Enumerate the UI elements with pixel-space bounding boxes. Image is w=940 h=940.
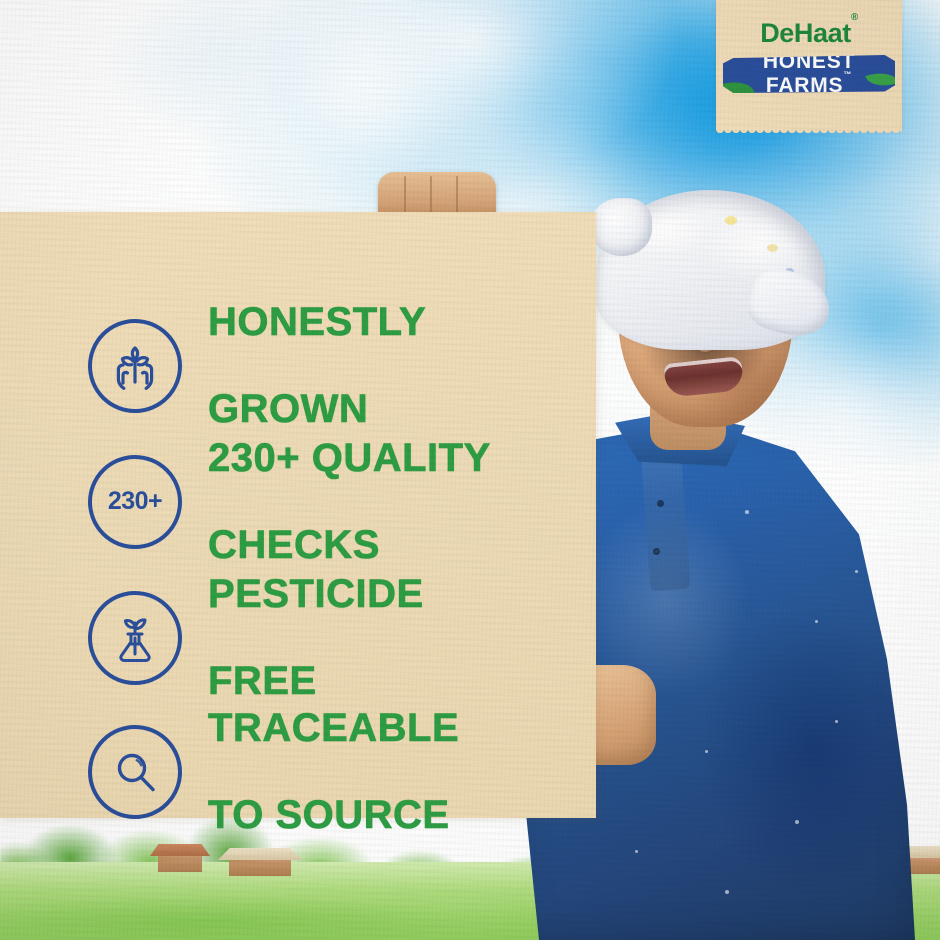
magnifying-glass-icon	[88, 725, 182, 819]
trademark-mark-icon: ™	[843, 70, 852, 79]
feature-traceable-to-source[interactable]: TRACEABLE TO SOURCE	[88, 664, 459, 880]
feature-label: TRACEABLE TO SOURCE	[208, 664, 459, 880]
logo-wordmark: DeHaat®	[760, 18, 858, 49]
board-scalloped-edge	[575, 212, 597, 818]
poster-canvas: HONESTLY GROWN 230+ 230+ QUALITY CHECKS	[0, 0, 940, 940]
logo-ribbon: HONEST FARMS™	[723, 55, 895, 93]
brand-logo[interactable]: DeHaat® HONEST FARMS™	[716, 0, 902, 130]
turban-knot	[590, 198, 652, 256]
logo-zigzag-edge	[716, 129, 902, 137]
feature-board: HONESTLY GROWN 230+ 230+ QUALITY CHECKS	[0, 212, 596, 818]
quality-check-count: 230+	[108, 487, 162, 516]
registered-mark-icon: ®	[851, 12, 858, 23]
